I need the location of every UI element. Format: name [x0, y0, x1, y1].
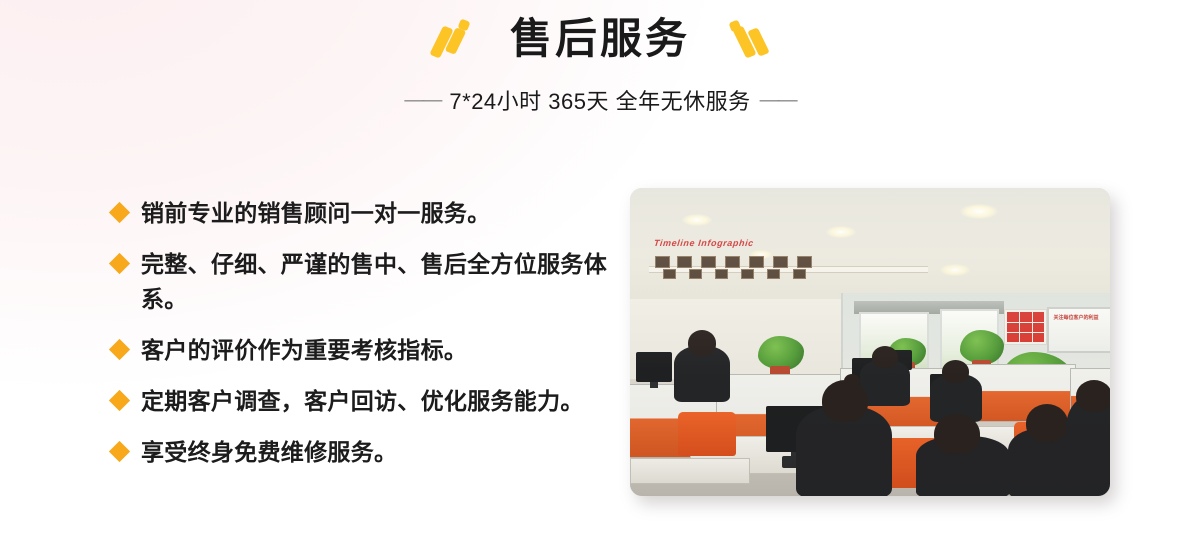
person-head — [822, 380, 868, 422]
diamond-bullet-icon — [109, 441, 130, 462]
notice-board — [1004, 309, 1047, 345]
diamond-bullet-icon — [109, 253, 130, 274]
banner-header: 售后服务 —— 7*24小时 365天 全年无休服务 —— — [0, 0, 1200, 116]
office-chair — [678, 412, 736, 456]
wall-sign-text: Timeline Infographic — [653, 238, 754, 248]
ceiling-light — [940, 264, 970, 276]
list-item-label: 完整、仔细、严谨的售中、售后全方位服务体系。 — [141, 247, 612, 317]
potted-plant — [960, 330, 1004, 364]
office-photo-scene: Timeline Infographic — [630, 188, 1110, 496]
person-head — [942, 360, 969, 383]
office-photo: Timeline Infographic — [630, 188, 1110, 496]
whiteboard-text: 关注每位客户的利益 — [1053, 314, 1098, 321]
ceiling-light — [960, 204, 998, 219]
person-head — [1026, 404, 1068, 442]
person-head — [872, 346, 898, 368]
list-item-label: 定期客户调查，客户回访、优化服务能力。 — [141, 384, 584, 419]
list-item: 客户的评价作为重要考核指标。 — [112, 333, 612, 368]
list-item: 享受终身免费维修服务。 — [112, 435, 612, 470]
list-item-label: 客户的评价作为重要考核指标。 — [141, 333, 467, 368]
feature-list: 销前专业的销售顾问一对一服务。 完整、仔细、严谨的售中、售后全方位服务体系。 客… — [112, 196, 612, 470]
quill-mark-right-icon — [724, 18, 768, 60]
subtitle-dash-right: —— — [760, 90, 796, 110]
desk — [630, 458, 750, 484]
potted-plant — [758, 336, 804, 370]
person-head — [688, 330, 716, 356]
ceiling-light — [826, 226, 856, 238]
wall-photo-frames — [649, 254, 918, 280]
subtitle-row: —— 7*24小时 365天 全年无休服务 —— — [0, 84, 1200, 116]
page-subtitle: 7*24小时 365天 全年无休服务 — [449, 84, 750, 116]
person-head — [934, 414, 980, 454]
list-item-label: 销前专业的销售顾问一对一服务。 — [141, 196, 491, 231]
hair-bun — [844, 374, 860, 388]
ceiling-light — [682, 214, 712, 226]
after-sales-service-banner: 售后服务 —— 7*24小时 365天 全年无休服务 —— 销前专业的销售顾问一… — [0, 0, 1200, 556]
person-head — [1076, 380, 1110, 412]
quill-mark-left-icon — [432, 18, 476, 60]
monitor — [636, 352, 672, 382]
diamond-bullet-icon — [109, 390, 130, 411]
whiteboard: 关注每位客户的利益 — [1047, 307, 1110, 353]
page-title: 售后服务 — [510, 14, 690, 64]
diamond-bullet-icon — [109, 339, 130, 360]
list-item: 完整、仔细、严谨的售中、售后全方位服务体系。 — [112, 247, 612, 317]
list-item-label: 享受终身免费维修服务。 — [141, 435, 397, 470]
list-item: 定期客户调查，客户回访、优化服务能力。 — [112, 384, 612, 419]
subtitle-dash-left: —— — [404, 90, 440, 110]
diamond-bullet-icon — [109, 202, 130, 223]
list-item: 销前专业的销售顾问一对一服务。 — [112, 196, 612, 231]
title-row: 售后服务 — [0, 0, 1200, 64]
